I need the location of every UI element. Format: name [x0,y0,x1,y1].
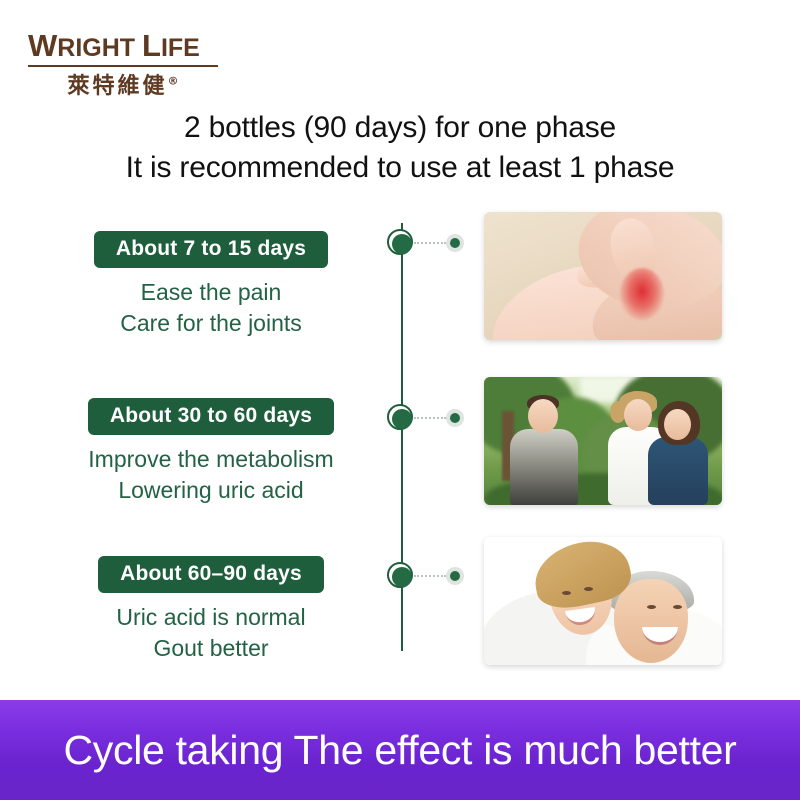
stage-2-desc-line-2: Lowering uric acid [46,475,376,506]
timeline-mini-dot-1 [446,234,464,252]
stage-2-desc-line-1: Improve the metabolism [46,444,376,475]
smiling-senior-couple-photo [484,537,722,665]
timeline-node-2-core [392,409,412,429]
bottom-banner: Cycle taking The effect is much better [0,700,800,800]
registered-trademark-icon: ® [168,74,179,87]
brand-wordmark-right: RIGHT [57,34,135,62]
stage-3-desc-line-1: Uric acid is normal [46,602,376,633]
brand-divider [28,65,218,67]
timeline-connector-2 [414,417,446,419]
headline-line-1: 2 bottles (90 days) for one phase [0,108,800,148]
stage-2-description: Improve the metabolism Lowering uric aci… [46,444,376,506]
timeline-node-2[interactable] [387,404,417,434]
stage-3-description: Uric acid is normal Gout better [46,602,376,664]
timeline-connector-1 [414,242,446,244]
stage-1-duration-badge: About 7 to 15 days [94,231,328,268]
joggers-outdoors-photo [484,377,722,505]
timeline-mini-dot-3 [446,567,464,585]
headline-line-2: It is recommended to use at least 1 phas… [0,148,800,188]
brand-wordmark-l: L [142,28,161,63]
brand-wordmark-ife: IFE [161,34,200,62]
stage-3-duration-badge: About 60–90 days [98,556,324,593]
brand-wordmark-w: W [28,28,57,63]
brand-chinese-text: 萊特維健 [67,74,167,99]
brand-logo: WRIGHT LIFE 萊特維健® [28,30,218,100]
stage-1-description: Ease the pain Care for the joints [46,277,376,339]
brand-wordmark: WRIGHT LIFE [28,30,218,63]
timeline-node-3[interactable] [387,562,417,592]
timeline-node-1-core [392,234,412,254]
stage-2-duration-badge: About 30 to 60 days [88,398,334,435]
timeline-mini-dot-2 [446,409,464,427]
timeline-node-3-core [392,567,412,587]
timeline-node-1[interactable] [387,229,417,259]
timeline-stage-1: About 7 to 15 days Ease the pain Care fo… [46,231,376,339]
timeline-connector-3 [414,575,446,577]
timeline-stage-2: About 30 to 60 days Improve the metaboli… [46,398,376,506]
foot-pain-massage-photo [484,212,722,340]
banner-text: Cycle taking The effect is much better [63,727,736,773]
stage-1-desc-line-2: Care for the joints [46,308,376,339]
stage-1-desc-line-1: Ease the pain [46,277,376,308]
stage-3-desc-line-2: Gout better [46,633,376,664]
page-title: 2 bottles (90 days) for one phase It is … [0,108,800,188]
timeline-stage-3: About 60–90 days Uric acid is normal Gou… [46,556,376,664]
brand-chinese-name: 萊特維健® [28,68,218,100]
